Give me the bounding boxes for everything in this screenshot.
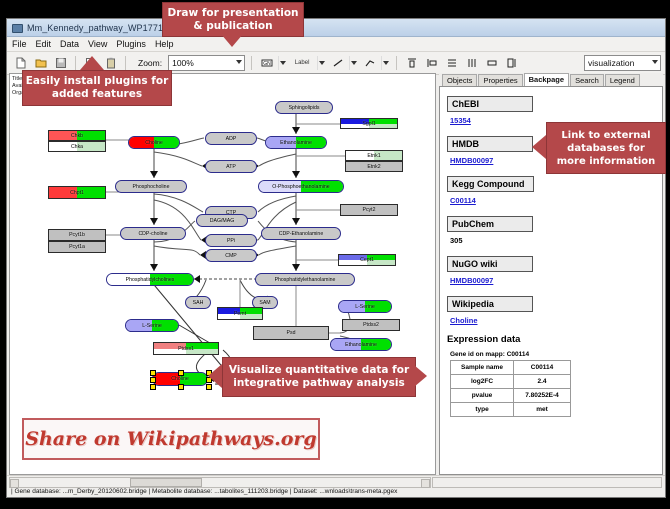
callout-arrow-left-icon: [208, 364, 222, 388]
paste-icon[interactable]: [102, 55, 119, 72]
link-nugo[interactable]: HMDB00097: [450, 276, 662, 285]
metabolite-label: Sphingolipids: [289, 105, 320, 111]
metabolite-node[interactable]: SAH: [185, 296, 211, 309]
callout-arrow-left-icon: [532, 135, 546, 159]
tab-legend[interactable]: Legend: [605, 74, 640, 86]
status-bar: | Gene database: ...m_Derby_20120602.bri…: [7, 475, 665, 497]
gene-node[interactable]: Chkb: [48, 130, 106, 141]
open-folder-icon[interactable]: [32, 55, 49, 72]
metabolite-label: Choline: [145, 140, 163, 146]
scrollbar-thumb[interactable]: [130, 478, 202, 487]
align-left-icon[interactable]: [423, 55, 440, 72]
metabolite-node[interactable]: Ethanolamine: [330, 338, 392, 351]
gene-node[interactable]: Chpt1: [48, 186, 106, 199]
interaction-dropdown-icon[interactable]: [381, 56, 390, 70]
new-file-icon[interactable]: [12, 55, 29, 72]
zoom-label: Zoom:: [138, 58, 162, 68]
metabolite-node[interactable]: Ethanolamine: [265, 136, 327, 149]
table-row: log2FC 2.4: [451, 375, 571, 389]
gene-label: Psd: [287, 330, 296, 336]
link-wikipedia[interactable]: Choline: [450, 316, 662, 325]
selection-handle[interactable]: [150, 370, 156, 376]
section-nugo: NuGO wiki HMDB00097: [447, 254, 662, 285]
metabolite-node[interactable]: Phosphatidylethanolamine: [255, 273, 355, 286]
stack-horizontal-icon[interactable]: [463, 55, 480, 72]
menu-item-plugins[interactable]: Plugins: [116, 39, 146, 49]
callout-visualize-data: Visualize quantitative data for integrat…: [222, 357, 416, 397]
selection-handle[interactable]: [150, 377, 156, 383]
row-value: met: [514, 403, 571, 417]
gene-label: Chkb: [71, 133, 83, 139]
row-key: pvalue: [451, 389, 514, 403]
gene-node[interactable]: Etnk2: [345, 161, 403, 172]
tab-objects[interactable]: Objects: [442, 74, 477, 86]
gene-label: Etnk2: [367, 164, 380, 170]
status-bar-text: | Gene database: ...m_Derby_20120602.bri…: [11, 488, 397, 495]
gene-node[interactable]: Cept1: [338, 254, 396, 266]
gene-node[interactable]: Sgpl1: [340, 118, 398, 129]
callout-text: Link to external databases for more info…: [557, 129, 656, 168]
gene-label: Pcyt1b: [69, 232, 85, 238]
gene-node[interactable]: Etnk1: [345, 150, 403, 161]
metabolite-node[interactable]: Phosphocholine: [115, 180, 187, 193]
gene-label: Pemt: [234, 311, 246, 317]
chevron-down-icon: [236, 60, 242, 64]
selection-handle[interactable]: [150, 384, 156, 390]
tab-search[interactable]: Search: [570, 74, 604, 86]
section-header-hmdb: HMDB: [447, 136, 533, 152]
metabolite-node[interactable]: ADP: [205, 132, 257, 145]
canvas-horizontal-scrollbar[interactable]: [9, 477, 431, 488]
menu-item-data[interactable]: Data: [60, 39, 79, 49]
metabolite-label: DAG/MAG: [210, 218, 235, 224]
tab-properties[interactable]: Properties: [478, 74, 522, 86]
value-pubchem: 305: [450, 236, 662, 245]
metabolite-node[interactable]: L-Serine: [125, 319, 179, 332]
screenshot-root: Mm_Kennedy_pathway_WP1771_45176.gpml Fil…: [0, 0, 670, 509]
metabolite-label: ATP: [226, 164, 236, 170]
visualization-combo[interactable]: visualization: [584, 55, 661, 71]
toolbar-separator: [396, 56, 397, 70]
expression-data-heading: Expression data: [447, 334, 662, 345]
gene-label: Chpt1: [70, 190, 84, 196]
line-dropdown-icon[interactable]: [349, 56, 358, 70]
callout-text: Visualize quantitative data for integrat…: [229, 364, 409, 390]
row-key: type: [451, 403, 514, 417]
section-header-kegg: Kegg Compound: [447, 176, 534, 192]
pathway-canvas[interactable]: Title: Availa Organ: [9, 73, 436, 475]
row-value: 7.80252E-4: [514, 389, 571, 403]
gene-label: Ptdss1: [178, 346, 194, 352]
metabolite-node[interactable]: O-Phosphoethanolamine: [258, 180, 344, 193]
table-row: Sample name C00114: [451, 361, 571, 375]
menu-item-help[interactable]: Help: [155, 39, 174, 49]
section-chebi: ChEBI 15354: [447, 94, 662, 125]
metabolite-label: Phosphatidylcholines: [126, 277, 175, 283]
toolbar-separator: [251, 56, 252, 70]
table-row: type met: [451, 403, 571, 417]
callout-text: Draw for presentation & publication: [167, 7, 298, 33]
callout-arrow-down-icon: [221, 34, 243, 47]
selection-handle[interactable]: [178, 370, 184, 376]
align-top-icon[interactable]: [403, 55, 420, 72]
gene-node[interactable]: Pcyt2: [340, 204, 398, 216]
callout-arrow-right-icon: [414, 365, 427, 387]
section-header-nugo: NuGO wiki: [447, 256, 533, 272]
gene-label: Etnk1: [367, 153, 380, 159]
section-header-chebi: ChEBI: [447, 96, 533, 112]
metabolite-node[interactable]: CDP-choline: [120, 227, 186, 240]
metabolite-node[interactable]: Choline: [128, 136, 180, 149]
section-pubchem: PubChem 305: [447, 214, 662, 245]
metabolite-label: L-Serine: [142, 323, 162, 329]
row-value: C00114: [514, 361, 571, 375]
link-kegg[interactable]: C00114: [450, 196, 662, 205]
metabolite-label: Ethanolamine: [345, 342, 377, 348]
visualization-value: visualization: [588, 58, 634, 68]
gene-node[interactable]: Ptdss1: [153, 342, 219, 355]
svg-text:GN: GN: [263, 61, 271, 67]
tab-backpage[interactable]: Backpage: [524, 73, 569, 86]
metabolite-node[interactable]: DAG/MAG: [196, 214, 248, 227]
callout-text: Easily install plugins for added feature…: [26, 75, 169, 101]
gene-label: Pcyt1a: [69, 244, 85, 250]
metabolite-node[interactable]: PPi: [205, 234, 257, 247]
metabolite-label: CMP: [225, 253, 237, 259]
gene-id-label: Gene id on mapp: C00114: [450, 351, 662, 358]
row-key: log2FC: [451, 375, 514, 389]
metabolite-label: PPi: [227, 238, 235, 244]
gene-node[interactable]: Pemt: [217, 307, 263, 320]
gene-node[interactable]: Pcyt1b: [48, 229, 106, 241]
gene-label: Cept1: [360, 257, 374, 263]
gene-label: Sgpl1: [362, 121, 375, 127]
label-icon[interactable]: Label: [290, 55, 314, 72]
menu-item-view[interactable]: View: [88, 39, 107, 49]
metabolite-node[interactable]: Phosphatidylcholines: [106, 273, 194, 286]
gene-node[interactable]: Psd: [253, 326, 329, 340]
metabolite-label: O-Phosphoethanolamine: [272, 184, 329, 190]
line-icon[interactable]: [329, 55, 346, 72]
callout-draw-for-publication: Draw for presentation & publication: [162, 2, 304, 37]
section-header-wikipedia: Wikipedia: [447, 296, 533, 312]
gene-node[interactable]: Ptdss2: [342, 319, 400, 331]
zoom-combo[interactable]: 100%: [168, 55, 245, 71]
metabolite-label: Phosphocholine: [133, 184, 170, 190]
table-row: pvalue 7.80252E-4: [451, 389, 571, 403]
metabolite-node[interactable]: L-Serine: [338, 300, 392, 313]
callout-install-plugins: Easily install plugins for added feature…: [22, 70, 172, 106]
datanode-icon[interactable]: GN: [258, 55, 275, 72]
metabolite-label: L-Serine: [355, 304, 375, 310]
chevron-down-icon: [652, 60, 658, 64]
callout-arrow-up-icon: [80, 56, 104, 70]
datanode-dropdown-icon[interactable]: [278, 56, 287, 70]
interaction-icon[interactable]: [361, 55, 378, 72]
label-dropdown-icon[interactable]: [317, 56, 326, 70]
gene-node[interactable]: Chka: [48, 141, 106, 152]
metabolite-label: ADP: [226, 136, 237, 142]
metabolite-node[interactable]: Sphingolipids: [275, 101, 333, 114]
toolbar-separator: [75, 56, 76, 70]
metabolite-label: CDP-choline: [138, 231, 167, 237]
metabolite-node[interactable]: ATP: [205, 160, 257, 173]
gene-node[interactable]: Pcyt1a: [48, 241, 106, 253]
stack-vertical-icon[interactable]: [443, 55, 460, 72]
metabolite-label: Ethanolamine: [280, 140, 312, 146]
gene-label: Chka: [71, 144, 83, 150]
share-text: Share on Wikipathways.org: [25, 428, 316, 450]
gene-label: Ptdss2: [363, 322, 379, 328]
metabolite-node[interactable]: CDP-Ethanolamine: [261, 227, 341, 240]
metabolite-label: SAM: [259, 300, 270, 306]
menu-bar: File Edit Data View Plugins Help: [7, 37, 665, 52]
callout-external-links: Link to external databases for more info…: [546, 122, 666, 174]
zoom-value: 100%: [172, 58, 194, 68]
side-panel-tabs: Objects Properties Backpage Search Legen…: [439, 73, 663, 86]
bring-front-icon[interactable]: [503, 55, 520, 72]
size-equal-icon[interactable]: [483, 55, 500, 72]
selection-handle[interactable]: [178, 384, 184, 390]
metabolite-label: CDP-Ethanolamine: [279, 231, 323, 237]
metabolite-node[interactable]: CMP: [205, 249, 257, 262]
gene-label: Pcyt2: [363, 207, 376, 213]
save-icon[interactable]: [52, 55, 69, 72]
pathvisio-icon: [11, 22, 22, 33]
callout-share-box: Share on Wikipathways.org: [22, 418, 320, 460]
section-wikipedia: Wikipedia Choline: [447, 294, 662, 325]
title-bar: Mm_Kennedy_pathway_WP1771_45176.gpml: [7, 19, 665, 37]
menu-item-file[interactable]: File: [12, 39, 27, 49]
metabolite-label: SAH: [193, 300, 204, 306]
toolbar-separator: [125, 56, 126, 70]
panel-horizontal-scrollbar[interactable]: [432, 477, 662, 488]
metabolite-label: CTP: [226, 210, 236, 216]
expression-table: Sample name C00114 log2FC 2.4 pvalue 7.8…: [450, 360, 571, 417]
row-value: 2.4: [514, 375, 571, 389]
section-kegg: Kegg Compound C00114: [447, 174, 662, 205]
section-header-pubchem: PubChem: [447, 216, 533, 232]
metabolite-label: Choline: [171, 376, 189, 382]
menu-item-edit[interactable]: Edit: [36, 39, 52, 49]
metabolite-label: Phosphatidylethanolamine: [275, 277, 336, 283]
row-key: Sample name: [451, 361, 514, 375]
